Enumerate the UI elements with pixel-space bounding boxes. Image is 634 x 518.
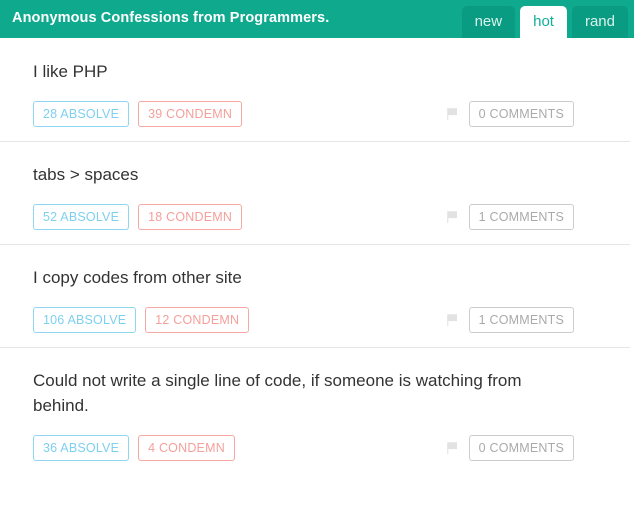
- confession-text: I like PHP: [33, 60, 558, 85]
- confession-actions: 52 ABSOLVE 18 CONDEMN 1 COMMENTS: [33, 204, 604, 231]
- comments-button[interactable]: 0 COMMENTS: [469, 435, 574, 462]
- flag-icon[interactable]: [444, 106, 460, 122]
- confession-actions: 106 ABSOLVE 12 CONDEMN 1 COMMENTS: [33, 307, 604, 334]
- comment-group: 0 COMMENTS: [444, 101, 574, 128]
- condemn-button[interactable]: 39 CONDEMN: [138, 101, 242, 128]
- condemn-button[interactable]: 18 CONDEMN: [138, 204, 242, 231]
- comments-button[interactable]: 1 COMMENTS: [469, 204, 574, 231]
- comments-button[interactable]: 0 COMMENTS: [469, 101, 574, 128]
- confession-text: I copy codes from other site: [33, 266, 558, 291]
- list-item: tabs > spaces 52 ABSOLVE 18 CONDEMN 1 CO…: [0, 141, 634, 244]
- list-item: Could not write a single line of code, i…: [0, 347, 634, 475]
- vote-group: 106 ABSOLVE 12 CONDEMN: [33, 307, 249, 334]
- condemn-button[interactable]: 12 CONDEMN: [145, 307, 249, 334]
- absolve-button[interactable]: 106 ABSOLVE: [33, 307, 136, 334]
- flag-icon[interactable]: [444, 312, 460, 328]
- vote-group: 28 ABSOLVE 39 CONDEMN: [33, 101, 242, 128]
- comment-group: 0 COMMENTS: [444, 435, 574, 462]
- confession-actions: 28 ABSOLVE 39 CONDEMN 0 COMMENTS: [33, 101, 604, 128]
- tab-hot[interactable]: hot: [520, 6, 567, 38]
- comments-button[interactable]: 1 COMMENTS: [469, 307, 574, 334]
- absolve-button[interactable]: 28 ABSOLVE: [33, 101, 129, 128]
- flag-icon[interactable]: [444, 209, 460, 225]
- confession-text: tabs > spaces: [33, 163, 558, 188]
- confession-text: Could not write a single line of code, i…: [33, 369, 558, 418]
- absolve-button[interactable]: 36 ABSOLVE: [33, 435, 129, 462]
- nav-tabs: new hot rand: [462, 6, 628, 38]
- page-title: Anonymous Confessions from Programmers.: [12, 10, 329, 26]
- flag-icon[interactable]: [444, 440, 460, 456]
- comment-group: 1 COMMENTS: [444, 307, 574, 334]
- confession-feed: I like PHP 28 ABSOLVE 39 CONDEMN 0 COMME…: [0, 38, 634, 475]
- tab-new[interactable]: new: [462, 6, 516, 38]
- vote-group: 36 ABSOLVE 4 CONDEMN: [33, 435, 235, 462]
- list-item: I copy codes from other site 106 ABSOLVE…: [0, 244, 634, 347]
- list-item: I like PHP 28 ABSOLVE 39 CONDEMN 0 COMME…: [0, 38, 634, 141]
- condemn-button[interactable]: 4 CONDEMN: [138, 435, 235, 462]
- vote-group: 52 ABSOLVE 18 CONDEMN: [33, 204, 242, 231]
- confession-actions: 36 ABSOLVE 4 CONDEMN 0 COMMENTS: [33, 435, 604, 462]
- comment-group: 1 COMMENTS: [444, 204, 574, 231]
- absolve-button[interactable]: 52 ABSOLVE: [33, 204, 129, 231]
- tab-rand[interactable]: rand: [572, 6, 628, 38]
- site-header: Anonymous Confessions from Programmers. …: [0, 0, 634, 38]
